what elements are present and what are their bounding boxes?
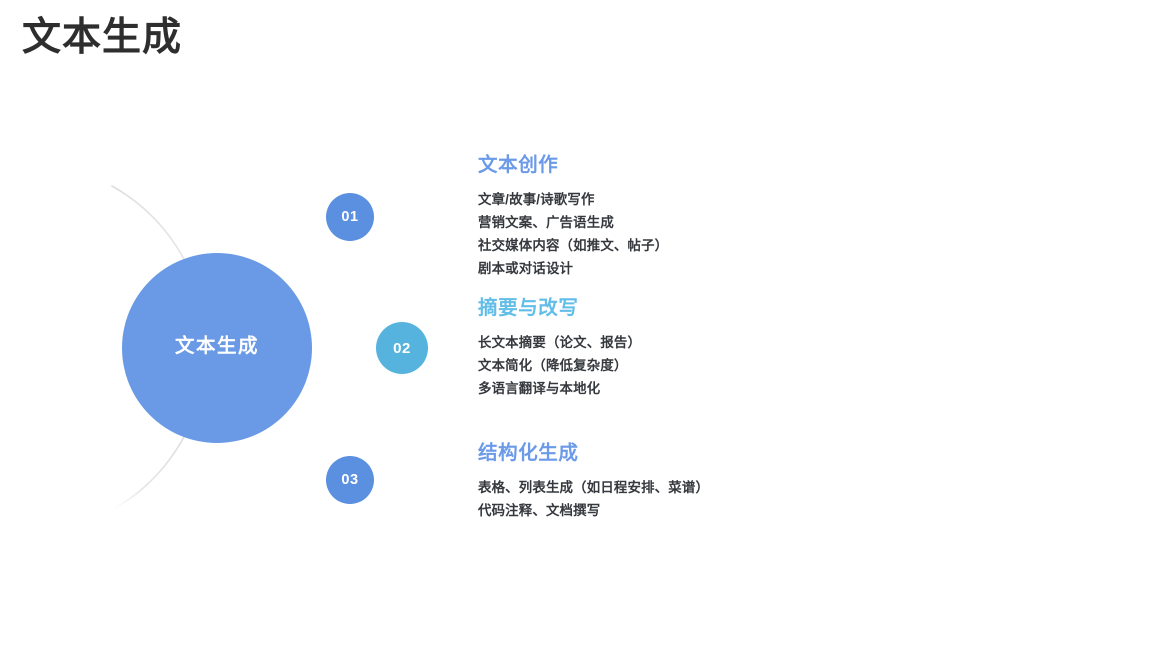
list-item: 文本简化（降低复杂度） bbox=[478, 354, 898, 377]
section-lines-2: 长文本摘要（论文、报告） 文本简化（降低复杂度） 多语言翻译与本地化 bbox=[478, 331, 898, 400]
section-heading-2: 摘要与改写 bbox=[478, 295, 898, 321]
hub-circle[interactable]: 文本生成 bbox=[122, 253, 312, 443]
node-badge-02[interactable]: 02 bbox=[376, 322, 428, 374]
circular-diagram: 文本生成 01 02 03 bbox=[0, 130, 470, 560]
list-item: 营销文案、广告语生成 bbox=[478, 211, 898, 234]
section-summarize-rewrite: 摘要与改写 长文本摘要（论文、报告） 文本简化（降低复杂度） 多语言翻译与本地化 bbox=[478, 295, 898, 400]
list-item: 长文本摘要（论文、报告） bbox=[478, 331, 898, 354]
section-heading-3: 结构化生成 bbox=[478, 440, 898, 466]
slide-root: 文本生成 文本生成 01 02 03 bbox=[0, 0, 1160, 653]
node-number-03: 03 bbox=[341, 473, 358, 488]
list-item: 代码注释、文档撰写 bbox=[478, 499, 898, 522]
section-text-creation: 文本创作 文章/故事/诗歌写作 营销文案、广告语生成 社交媒体内容（如推文、帖子… bbox=[478, 152, 898, 280]
list-item: 社交媒体内容（如推文、帖子） bbox=[478, 234, 898, 257]
section-structured-generation: 结构化生成 表格、列表生成（如日程安排、菜谱） 代码注释、文档撰写 bbox=[478, 440, 898, 522]
node-badge-03[interactable]: 03 bbox=[326, 456, 374, 504]
list-item: 剧本或对话设计 bbox=[478, 257, 898, 280]
section-lines-3: 表格、列表生成（如日程安排、菜谱） 代码注释、文档撰写 bbox=[478, 476, 898, 522]
section-heading-1: 文本创作 bbox=[478, 152, 898, 178]
hub-label: 文本生成 bbox=[175, 337, 259, 357]
node-number-02: 02 bbox=[393, 341, 411, 356]
list-item: 多语言翻译与本地化 bbox=[478, 377, 898, 400]
section-lines-1: 文章/故事/诗歌写作 营销文案、广告语生成 社交媒体内容（如推文、帖子） 剧本或… bbox=[478, 188, 898, 280]
page-title: 文本生成 bbox=[22, 12, 182, 64]
list-item: 表格、列表生成（如日程安排、菜谱） bbox=[478, 476, 898, 499]
node-badge-01[interactable]: 01 bbox=[326, 193, 374, 241]
list-item: 文章/故事/诗歌写作 bbox=[478, 188, 898, 211]
node-number-01: 01 bbox=[341, 210, 358, 225]
